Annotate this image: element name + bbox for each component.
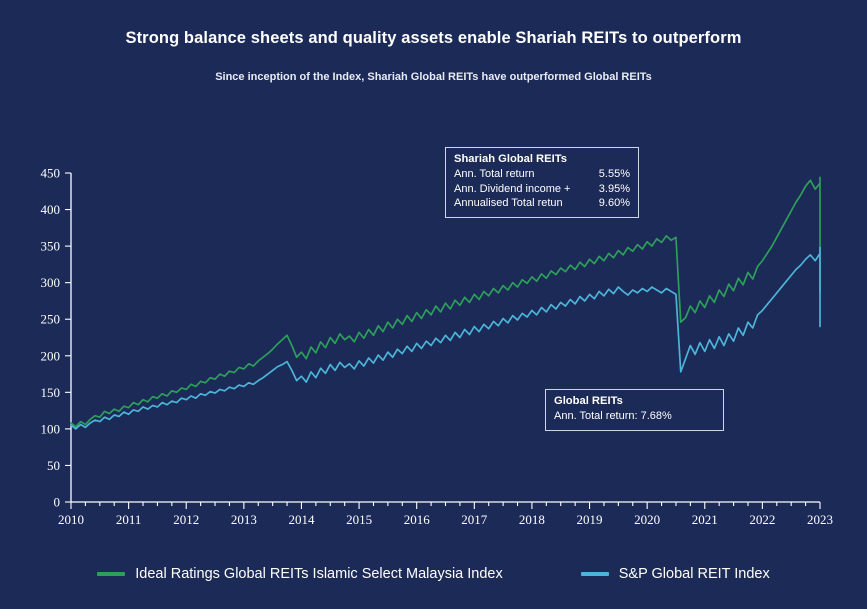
annotation-shariah-row-1-key: Ann. Dividend income +	[454, 182, 578, 197]
x-axis-tick-label: 2023	[807, 512, 833, 527]
x-axis-tick-label: 2016	[404, 512, 431, 527]
annotation-shariah-row-0-value: 5.55%	[599, 167, 630, 182]
x-axis-tick-label: 2013	[231, 512, 257, 527]
x-axis-tick-label: 2017	[461, 512, 488, 527]
legend-label-shariah: Ideal Ratings Global REITs Islamic Selec…	[135, 566, 503, 582]
annotation-shariah-row-2: Annualised Total retun 9.60%	[454, 196, 630, 211]
y-axis-tick-label: 0	[54, 495, 61, 510]
annotation-global-title: Global REITs	[554, 395, 715, 407]
y-axis-tick-label: 150	[41, 385, 61, 400]
x-axis-tick-label: 2011	[116, 512, 142, 527]
annotation-shariah-row-2-value: 9.60%	[599, 196, 630, 211]
annotation-shariah-row-0: Ann. Total return 5.55%	[454, 167, 630, 182]
x-axis-tick-label: 2012	[173, 512, 199, 527]
x-axis-tick-label: 2020	[634, 512, 660, 527]
annotation-global-reits: Global REITs Ann. Total return: 7.68%	[545, 389, 724, 431]
legend-label-global: S&P Global REIT Index	[619, 566, 770, 582]
line-chart: 0501001502002503003504004502010201120122…	[0, 0, 867, 609]
annotation-shariah-row-1-value: 3.95%	[599, 182, 630, 197]
legend-item-global[interactable]: S&P Global REIT Index	[581, 566, 770, 582]
annotation-shariah-row-2-key: Annualised Total retun	[454, 196, 571, 211]
annotation-shariah-row-1: Ann. Dividend income + 3.95%	[454, 182, 630, 197]
annotation-shariah-title: Shariah Global REITs	[454, 153, 630, 165]
y-axis-tick-label: 400	[41, 202, 61, 217]
annotation-global-line: Ann. Total return: 7.68%	[554, 409, 715, 424]
legend-swatch-global	[581, 572, 609, 576]
y-axis-tick-label: 100	[41, 421, 61, 436]
y-axis-tick-label: 300	[41, 275, 61, 290]
x-axis-tick-label: 2018	[519, 512, 545, 527]
y-axis-tick-label: 350	[41, 239, 61, 254]
x-axis-tick-label: 2015	[346, 512, 372, 527]
y-axis-tick-label: 50	[47, 458, 60, 473]
y-axis-tick-label: 200	[41, 348, 61, 363]
legend-item-shariah[interactable]: Ideal Ratings Global REITs Islamic Selec…	[97, 566, 503, 582]
x-axis-tick-label: 2021	[692, 512, 718, 527]
x-axis-tick-label: 2010	[58, 512, 84, 527]
x-axis-tick-label: 2019	[577, 512, 603, 527]
y-axis-tick-label: 250	[41, 312, 61, 327]
x-axis-tick-label: 2022	[749, 512, 775, 527]
chart-legend: Ideal Ratings Global REITs Islamic Selec…	[0, 566, 867, 582]
x-axis-tick-label: 2014	[288, 512, 315, 527]
annotation-shariah-global-reits: Shariah Global REITs Ann. Total return 5…	[445, 147, 639, 218]
annotation-shariah-row-0-key: Ann. Total return	[454, 167, 543, 182]
legend-swatch-shariah	[97, 572, 125, 576]
y-axis-tick-label: 450	[41, 166, 61, 181]
